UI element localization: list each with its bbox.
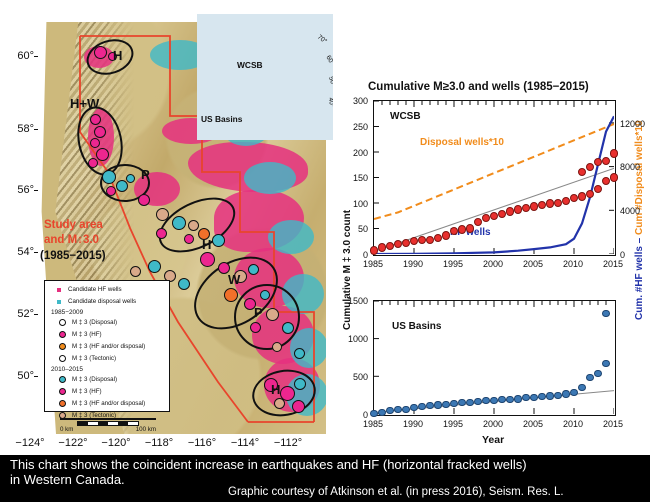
charts-panel: Cumulative M≥3.0 and wells (1985−2015) C… bbox=[338, 0, 650, 455]
earthquake-marker bbox=[88, 158, 98, 168]
earthquake-marker bbox=[250, 322, 261, 333]
data-point-marker bbox=[418, 403, 425, 410]
map-lon-tick: −116° bbox=[182, 437, 222, 449]
scalebar-line bbox=[60, 418, 156, 420]
earthquake-marker bbox=[106, 186, 116, 196]
earthquake-marker bbox=[126, 174, 135, 183]
map-annotation-label: P bbox=[141, 167, 150, 182]
data-point-marker bbox=[466, 399, 473, 406]
map-annotation-label: H+W bbox=[70, 96, 99, 111]
caption-credit-text: Graphic courtesy of Atkinson et al. (in … bbox=[228, 486, 564, 498]
data-point-marker bbox=[578, 192, 586, 200]
legend-label: Candidate disposal wells bbox=[68, 298, 136, 305]
legend-item: M ‡ 3 (HF) bbox=[51, 329, 165, 340]
scalebar-labels: 0 km 100 km bbox=[60, 426, 156, 433]
map-lon-tick: −120° bbox=[96, 437, 136, 449]
data-point-marker bbox=[386, 407, 393, 414]
legend-label: Candidate HF wells bbox=[68, 286, 122, 293]
data-point-marker bbox=[410, 404, 417, 411]
us-basins-x-tick: 2010 bbox=[556, 419, 590, 429]
earthquake-marker bbox=[94, 126, 106, 138]
legend-label: M ‡ 3 (Disposal) bbox=[72, 376, 117, 383]
wcsb-plot-area: WCSB Disposal wells*10 HF wells bbox=[373, 100, 616, 256]
data-point-marker bbox=[562, 390, 569, 397]
data-point-marker bbox=[522, 394, 529, 401]
data-point-marker bbox=[514, 395, 521, 402]
earthquake-marker bbox=[266, 308, 279, 321]
data-point-marker bbox=[466, 224, 474, 232]
map-lon-tick: −112° bbox=[268, 437, 308, 449]
data-point-marker bbox=[394, 240, 402, 248]
x-axis-title: Year bbox=[482, 434, 504, 446]
map-lat-tick: 50° bbox=[0, 370, 34, 382]
data-point-marker bbox=[610, 173, 618, 181]
wcsb-x-tick: 1995 bbox=[436, 259, 470, 269]
wcsb-y-tick: 100 bbox=[338, 199, 368, 209]
caption-bar: This chart shows the coincident increase… bbox=[0, 455, 650, 502]
data-point-marker bbox=[554, 392, 561, 399]
map-lat-tick: 54° bbox=[0, 246, 34, 258]
caption-main-text: This chart shows the coincident increase… bbox=[10, 457, 530, 487]
disposal-well-swatch-icon bbox=[57, 300, 61, 304]
legend-item: M ‡ 3 (HF and/or disposal) bbox=[51, 341, 165, 352]
map-lon-tick: −114° bbox=[225, 437, 265, 449]
map-lat-tick: 58° bbox=[0, 123, 34, 135]
legend-item-disposal-wells: Candidate disposal wells bbox=[51, 296, 165, 307]
us-basins-x-tick: 2000 bbox=[476, 419, 510, 429]
data-point-marker bbox=[530, 202, 538, 210]
circle-marker-icon bbox=[59, 388, 66, 395]
wcsb-x-tick: 2015 bbox=[596, 259, 630, 269]
inset-locator-map: WCSB US Basins 70° 60° 50° 40° bbox=[197, 14, 333, 140]
map-scalebar: 0 km 100 km bbox=[60, 418, 156, 433]
us-basins-x-tick: 2015 bbox=[596, 419, 630, 429]
map-annotation-label: H bbox=[202, 237, 211, 252]
earthquake-marker bbox=[90, 114, 101, 125]
us-basins-y-tick: 1000 bbox=[338, 334, 368, 344]
data-point-marker bbox=[514, 205, 522, 213]
data-point-marker bbox=[546, 392, 553, 399]
wcsb-y-tick: 150 bbox=[338, 173, 368, 183]
study-area-label-line1: Study area bbox=[44, 219, 103, 232]
wcsb-x-tick: 2005 bbox=[516, 259, 550, 269]
legend-item: M ‡ 3 (Disposal) bbox=[51, 317, 165, 328]
map-lat-tick: 56° bbox=[0, 184, 34, 196]
circle-marker-icon bbox=[59, 400, 66, 407]
data-point-marker bbox=[402, 406, 409, 413]
data-point-marker bbox=[370, 246, 378, 254]
us-basins-x-tick: 1995 bbox=[436, 419, 470, 429]
data-point-marker bbox=[458, 399, 465, 406]
circle-marker-icon bbox=[59, 376, 66, 383]
us-basins-x-tick: 1985 bbox=[356, 419, 390, 429]
study-area-label-line2: and M↕3.0 bbox=[44, 234, 99, 247]
us-basins-y-tick: 500 bbox=[338, 372, 368, 382]
data-point-marker bbox=[594, 370, 601, 377]
data-point-marker bbox=[482, 397, 489, 404]
wcsb-y-tick-right: 4000 bbox=[620, 206, 650, 216]
legend-item: M ‡ 3 (HF) bbox=[51, 386, 165, 397]
us-basins-x-tick: 1990 bbox=[396, 419, 430, 429]
earthquake-marker bbox=[94, 46, 107, 59]
map-annotation-label: H bbox=[113, 48, 122, 63]
inset-wcsb-label: WCSB bbox=[237, 60, 263, 70]
earthquake-marker bbox=[188, 220, 199, 231]
data-point-marker bbox=[378, 243, 386, 251]
data-point-marker bbox=[594, 185, 602, 193]
wcsb-y-tick: 300 bbox=[338, 96, 368, 106]
map-panel: 60° 58° 56° 54° 52° 50° −124° −122° −120… bbox=[0, 0, 340, 455]
y-axis-title-right-orange: Cum #Disposal wells*10 bbox=[634, 120, 645, 235]
data-point-marker bbox=[498, 396, 505, 403]
legend-item: M ‡ 3 (HF and/or disposal) bbox=[51, 398, 165, 409]
us-basins-y-tick: 1500 bbox=[338, 296, 368, 306]
inset-us-basins-label: US Basins bbox=[201, 114, 242, 124]
figure-canvas: 60° 58° 56° 54° 52° 50° −124° −122° −120… bbox=[0, 0, 650, 455]
earthquake-marker bbox=[272, 342, 282, 352]
map-lon-tick: −124° bbox=[10, 437, 50, 449]
data-point-marker bbox=[394, 406, 401, 413]
earthquake-marker bbox=[200, 252, 215, 267]
data-point-marker bbox=[498, 210, 506, 218]
earthquake-marker bbox=[282, 322, 294, 334]
circle-marker-icon bbox=[59, 331, 66, 338]
map-lon-tick: −122° bbox=[53, 437, 93, 449]
wcsb-x-tick: 1990 bbox=[396, 259, 430, 269]
data-point-marker bbox=[458, 225, 466, 233]
earthquake-marker bbox=[224, 288, 238, 302]
legend-item: M ‡ 3 (Tectonic) bbox=[51, 353, 165, 364]
disposal-well-density-cloud bbox=[244, 162, 296, 194]
data-point-marker bbox=[434, 401, 441, 408]
wcsb-x-tick: 2010 bbox=[556, 259, 590, 269]
legend-label: M ‡ 3 (HF) bbox=[72, 331, 102, 338]
inset-lat-tick: 40° bbox=[327, 97, 333, 108]
map-lat-tick: 60° bbox=[0, 50, 34, 62]
legend-label: M ‡ 3 (HF) bbox=[72, 388, 102, 395]
wcsb-x-tick: 2000 bbox=[476, 259, 510, 269]
map-annotation-label: P bbox=[254, 305, 263, 320]
data-point-marker bbox=[402, 239, 410, 247]
data-point-marker bbox=[426, 236, 434, 244]
scalebar-max-label: 100 km bbox=[136, 426, 156, 433]
legend-group-header-1985: 1985−2009 bbox=[51, 309, 165, 316]
data-point-marker bbox=[586, 374, 593, 381]
data-point-marker bbox=[370, 410, 377, 417]
earthquake-marker bbox=[274, 398, 285, 409]
data-point-marker bbox=[538, 393, 545, 400]
wcsb-y-tick: 250 bbox=[338, 122, 368, 132]
data-point-marker bbox=[426, 402, 433, 409]
earthquake-marker bbox=[156, 228, 167, 239]
y-axis-title-right: Cum. #HF wells – Cum #Disposal wells*10 bbox=[634, 120, 645, 320]
us-basins-plot-area: US Basins bbox=[373, 300, 616, 416]
data-point-marker bbox=[378, 409, 385, 416]
legend-label: M ‡ 3 (Disposal) bbox=[72, 319, 117, 326]
data-point-marker bbox=[570, 389, 577, 396]
earthquake-marker bbox=[212, 234, 225, 247]
data-point-marker bbox=[442, 401, 449, 408]
earthquake-marker bbox=[172, 216, 186, 230]
map-annotation-label: W bbox=[228, 272, 240, 287]
data-point-marker bbox=[578, 384, 585, 391]
earthquake-marker bbox=[156, 208, 169, 221]
legend-label: M ‡ 3 (HF and/or disposal) bbox=[72, 400, 145, 407]
data-point-marker bbox=[610, 149, 618, 157]
y-axis-title-right-sep: – bbox=[634, 235, 645, 246]
data-point-marker bbox=[442, 231, 450, 239]
earthquake-marker bbox=[116, 180, 128, 192]
chart-title: Cumulative M≥3.0 and wells (1985−2015) bbox=[368, 81, 589, 93]
legend-label: M ‡ 3 (HF and/or disposal) bbox=[72, 343, 145, 350]
data-point-marker bbox=[506, 207, 514, 215]
earthquake-marker bbox=[184, 234, 194, 244]
earthquake-marker bbox=[260, 290, 270, 300]
circle-marker-icon bbox=[59, 319, 66, 326]
legend-item-hf-wells: Candidate HF wells bbox=[51, 284, 165, 295]
wcsb-y-tick-right: 12000 bbox=[620, 119, 650, 129]
circle-marker-icon bbox=[59, 343, 66, 350]
earthquake-marker bbox=[102, 170, 116, 184]
map-legend: Candidate HF wells Candidate disposal we… bbox=[44, 280, 170, 412]
hf-well-swatch-icon bbox=[57, 288, 61, 292]
earthquake-marker bbox=[130, 266, 141, 277]
data-point-marker bbox=[450, 400, 457, 407]
data-point-marker bbox=[546, 199, 554, 207]
map-annotation-label: H bbox=[271, 382, 280, 397]
earthquake-marker bbox=[294, 348, 305, 359]
earthquake-marker bbox=[138, 194, 150, 206]
legend-label: M ‡ 3 (Tectonic) bbox=[72, 355, 116, 362]
map-lat-tick: 52° bbox=[0, 308, 34, 320]
earthquake-marker bbox=[294, 378, 306, 390]
legend-item: M ‡ 3 (Disposal) bbox=[51, 374, 165, 385]
wcsb-plot-svg bbox=[374, 101, 614, 254]
earthquake-marker bbox=[90, 138, 100, 148]
wcsb-y-tick: 50 bbox=[338, 224, 368, 234]
circle-marker-icon bbox=[59, 355, 66, 362]
data-point-marker bbox=[602, 310, 609, 317]
earthquake-marker bbox=[178, 278, 190, 290]
data-point-marker bbox=[506, 396, 513, 403]
us-basins-x-tick: 2005 bbox=[516, 419, 550, 429]
wcsb-y-tick: 200 bbox=[338, 148, 368, 158]
legend-group-header-2010: 2010–2015 bbox=[51, 366, 165, 373]
data-point-marker bbox=[490, 397, 497, 404]
earthquake-marker bbox=[292, 400, 305, 413]
wcsb-y-tick-right: 8000 bbox=[620, 162, 650, 172]
data-point-marker bbox=[474, 398, 481, 405]
data-point-marker bbox=[490, 212, 498, 220]
earthquake-marker bbox=[248, 264, 259, 275]
study-area-label-line3: (1985−2015) bbox=[40, 250, 106, 262]
data-point-marker bbox=[530, 394, 537, 401]
earthquake-marker bbox=[96, 148, 109, 161]
earthquake-marker bbox=[148, 260, 161, 273]
map-lon-tick: −118° bbox=[139, 437, 179, 449]
scalebar-min-label: 0 km bbox=[60, 426, 73, 433]
wcsb-x-tick: 1985 bbox=[356, 259, 390, 269]
disposal-well-density-cloud bbox=[268, 220, 314, 254]
